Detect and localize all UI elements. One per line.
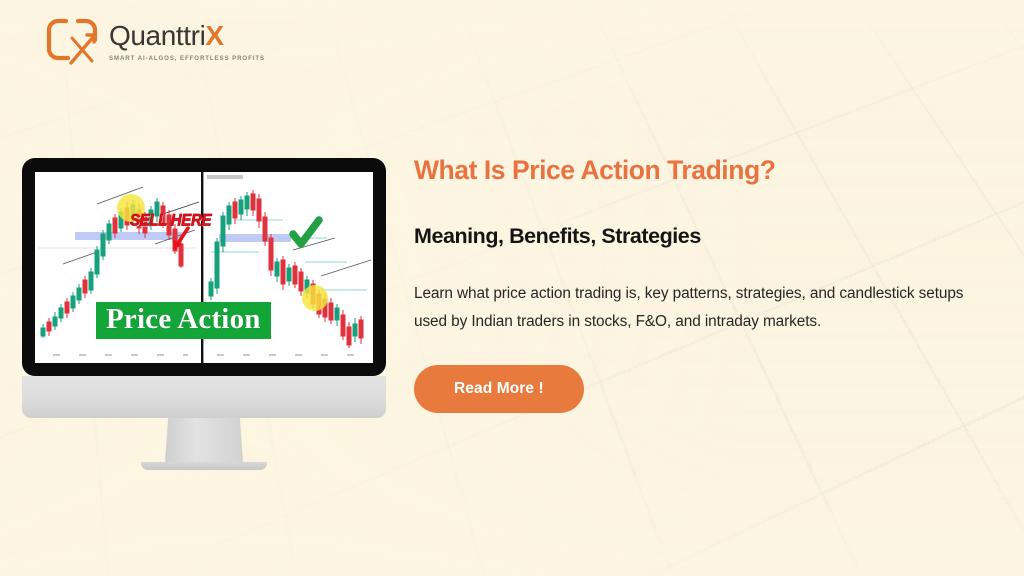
- read-more-button[interactable]: Read More !: [414, 365, 584, 413]
- description-text: Learn what price action trading is, key …: [414, 280, 996, 335]
- brand-name-main: Quanttri: [109, 20, 205, 51]
- brand-wordmark: QuanttriX SMART AI-ALGOS, EFFORTLESS PRO…: [109, 22, 265, 62]
- brand-logo[interactable]: QuanttriX SMART AI-ALGOS, EFFORTLESS PRO…: [44, 16, 265, 68]
- monitor-stand-foot: [141, 462, 267, 470]
- right-highlight-circle: [302, 285, 328, 311]
- brand-tagline: SMART AI-ALGOS, EFFORTLESS PROFITS: [109, 55, 265, 62]
- monitor-bezel: SELL HERE Price Action: [22, 158, 386, 376]
- monitor-chin: [22, 376, 386, 418]
- right-panel-header-bar: [207, 175, 243, 179]
- left-trendline-lower: [63, 252, 97, 264]
- brand-name-accent: X: [205, 20, 223, 51]
- bracket-arrow-logo-icon: [44, 16, 100, 68]
- brand-name: QuanttriX: [109, 22, 224, 50]
- monitor-illustration: SELL HERE Price Action: [22, 158, 386, 470]
- page-canvas: QuanttriX SMART AI-ALGOS, EFFORTLESS PRO…: [0, 0, 1024, 576]
- price-action-banner: Price Action: [96, 302, 271, 339]
- page-subtitle: Meaning, Benefits, Strategies: [414, 224, 1006, 249]
- sell-here-label: SELL HERE: [130, 211, 211, 230]
- monitor-stand-neck: [165, 418, 243, 462]
- price-action-banner-text: Price Action: [106, 305, 261, 334]
- page-title: What Is Price Action Trading?: [414, 156, 1006, 186]
- chart-axis-ticks: [53, 354, 354, 356]
- content-column: What Is Price Action Trading? Meaning, B…: [414, 156, 1006, 413]
- green-checkmark-icon: [293, 220, 319, 244]
- monitor-screen: SELL HERE Price Action: [35, 172, 373, 363]
